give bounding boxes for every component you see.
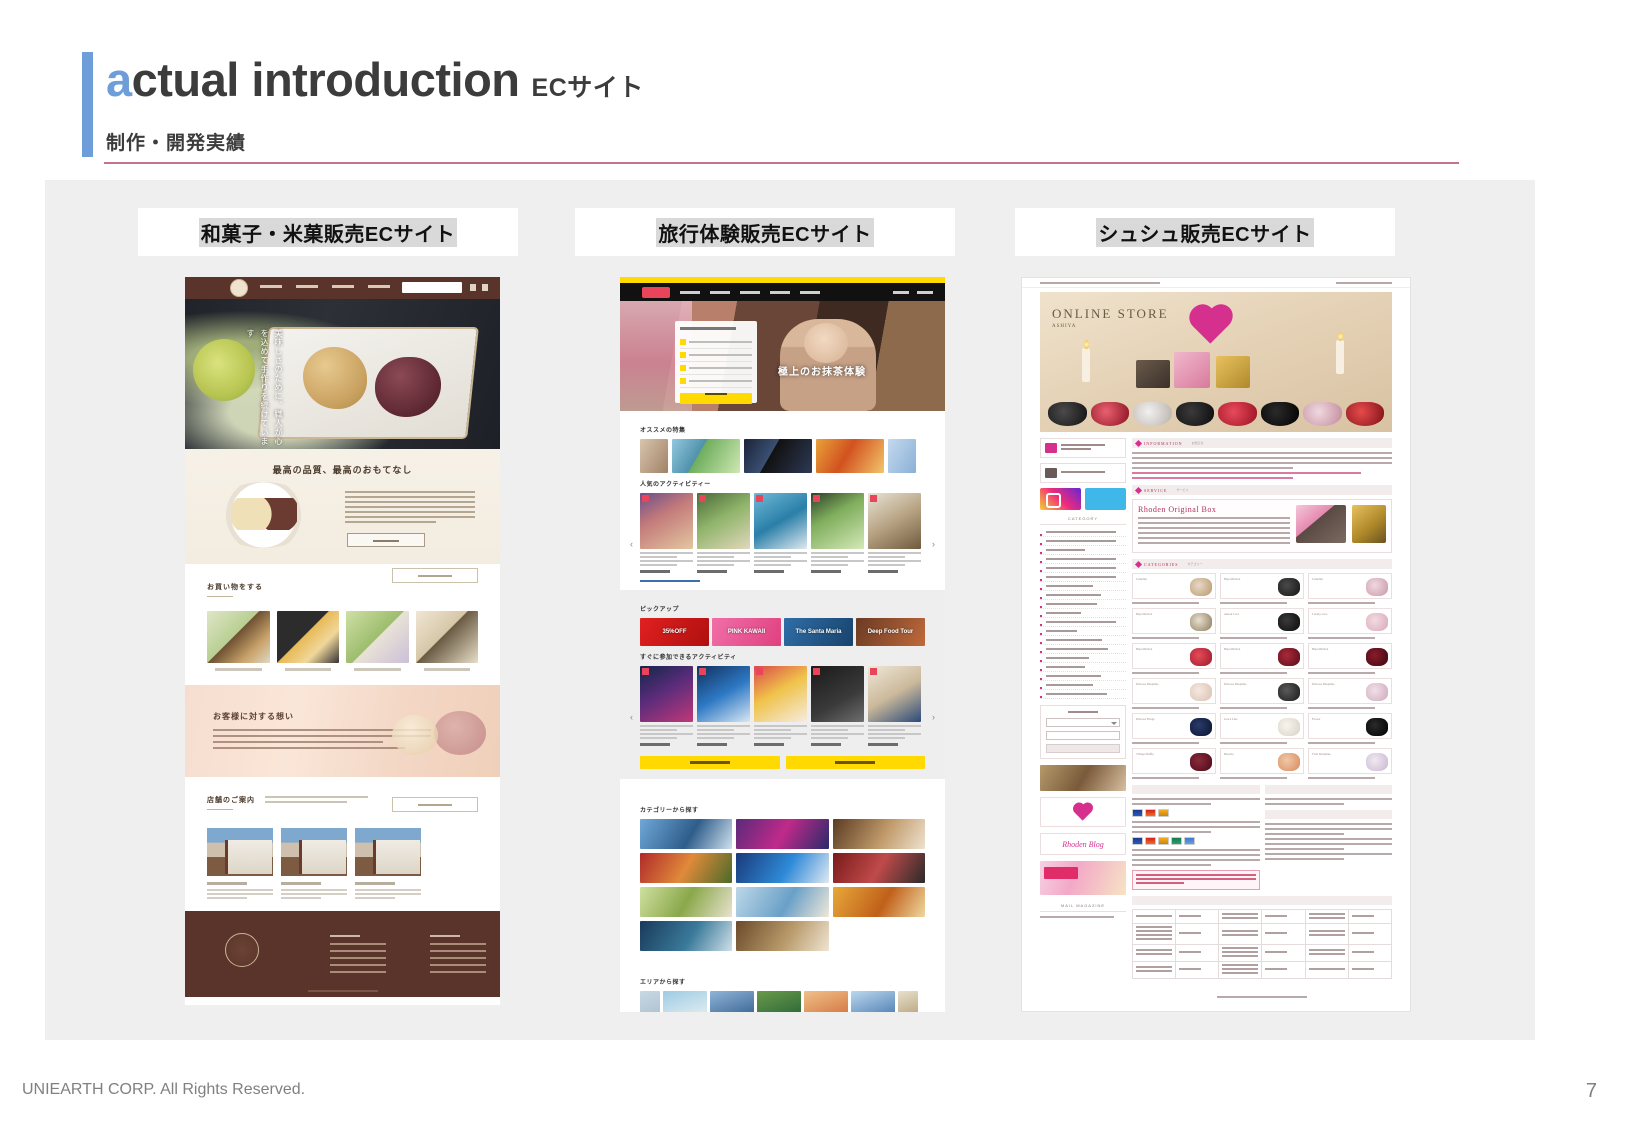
page-number: 7 — [1586, 1080, 1597, 1103]
product-brand: Bijou Ribbon — [1136, 647, 1152, 651]
product-brand: Camellia — [1312, 577, 1323, 581]
product-brand: Grace Line — [1224, 717, 1237, 721]
product-image: Amour Lace — [1220, 608, 1304, 634]
wagashi-nav-icons[interactable] — [470, 284, 488, 291]
chouchou-photo — [1278, 753, 1300, 771]
sidebar-banner-media[interactable] — [1040, 861, 1126, 895]
product-name — [1308, 707, 1375, 709]
login-icon — [917, 291, 933, 294]
shipping-column — [1265, 785, 1393, 890]
table-cell — [1305, 910, 1348, 924]
product-grid — [207, 611, 478, 671]
footer-column-shop[interactable] — [330, 935, 386, 978]
category-card[interactable] — [833, 887, 925, 917]
payment-heading — [1132, 785, 1260, 794]
feature-card[interactable] — [672, 439, 740, 473]
store-image — [207, 828, 273, 876]
sidebar-category-item[interactable] — [1040, 537, 1126, 546]
activity-image — [697, 666, 750, 722]
search-field-date[interactable] — [680, 362, 752, 375]
sidebar-category-item[interactable] — [1040, 672, 1126, 681]
category-card[interactable] — [833, 853, 925, 883]
badge-icon — [813, 495, 820, 502]
product-name — [1220, 602, 1287, 604]
table-cell — [1262, 910, 1305, 924]
feature-carousel[interactable] — [640, 439, 925, 473]
shipping-text — [1265, 798, 1393, 805]
travel-mock: 極上のお抹茶体験 オススメの特集 — [620, 277, 945, 1012]
store-name — [281, 882, 321, 885]
table-cell — [1133, 910, 1176, 924]
more-activities-link[interactable] — [640, 580, 700, 582]
badge-icon — [642, 668, 649, 675]
amex-icon — [1158, 809, 1169, 817]
product-card[interactable] — [207, 611, 270, 671]
search-field-category[interactable] — [680, 349, 752, 362]
chouchou-photo — [1190, 648, 1212, 666]
diamond-icon — [1135, 560, 1142, 567]
sidebar-category-item[interactable] — [1040, 618, 1126, 627]
chouchou-photo — [1278, 578, 1300, 596]
chouchou-image — [1218, 402, 1257, 426]
sidebar-category-item[interactable] — [1040, 627, 1126, 636]
sidebar-category-item[interactable] — [1040, 564, 1126, 573]
stores-heading: 店舗のご案内 — [207, 795, 255, 810]
activity-price — [754, 743, 784, 746]
carousel-prev-icon[interactable]: ‹ — [630, 712, 633, 722]
screenshot-wagashi-site[interactable]: 美味しさのために、職人が心を込めて手作りを続けています 最高の品質、最高のおもて… — [185, 277, 500, 1005]
payment-shipping-row — [1132, 785, 1392, 890]
activity-price — [640, 743, 670, 746]
activity-card[interactable] — [754, 493, 807, 573]
table-cell — [1348, 962, 1391, 979]
sidebar-category-item[interactable] — [1040, 609, 1126, 618]
table-cell — [1219, 924, 1262, 945]
product-brand: Twin Dauphine — [1312, 752, 1331, 756]
badge-icon — [699, 668, 706, 675]
table-cell — [1348, 945, 1391, 962]
instagram-icon[interactable] — [1040, 488, 1081, 510]
activity-price — [811, 743, 841, 746]
product-name — [1220, 777, 1287, 779]
information-text — [1132, 452, 1392, 479]
area-card[interactable] — [757, 991, 801, 1012]
product-card[interactable]: Grace Line — [1220, 713, 1304, 744]
category-card[interactable] — [833, 819, 925, 849]
table-cell — [1305, 962, 1348, 979]
area-section: エリアから探す — [620, 963, 945, 1012]
pickup-banner[interactable]: The Santa Maria — [784, 618, 853, 646]
section-sublabel: カテゴリー — [1187, 562, 1202, 566]
chouchou-photo — [1190, 613, 1212, 631]
carousel-prev-icon[interactable]: ‹ — [630, 539, 633, 549]
sidebar-category-item[interactable] — [1040, 636, 1126, 645]
category-card[interactable] — [640, 819, 732, 849]
page-subtitle: 制作・開発実績 — [106, 128, 246, 155]
wagashi-navbar — [185, 277, 500, 299]
wagashi-hero: 美味しさのために、職人が心を込めて手作りを続けています — [185, 299, 500, 449]
sidebar-category-item[interactable] — [1040, 555, 1126, 564]
search-submit-button[interactable] — [1046, 744, 1120, 753]
product-card[interactable]: Camellia — [1308, 573, 1392, 604]
philosophy-copy — [213, 729, 431, 753]
chouchou-photo — [1366, 683, 1388, 701]
table-cell — [1262, 924, 1305, 945]
pickup-banner[interactable]: 35%OFF — [640, 618, 709, 646]
title-highlight-letter: a — [106, 53, 132, 106]
store-info — [207, 889, 273, 899]
activity-title — [811, 725, 864, 739]
product-brand: Luxury Lace — [1312, 612, 1327, 616]
product-card[interactable]: Princess Dauphine — [1220, 678, 1304, 709]
area-card[interactable] — [663, 991, 707, 1012]
store-info — [281, 889, 347, 899]
header-divider — [104, 162, 1459, 164]
table-cell — [1348, 910, 1391, 924]
table-cell — [1305, 945, 1348, 962]
stores-more-button[interactable] — [392, 797, 478, 812]
mastercard-icon — [1145, 837, 1156, 845]
section-heading-popular: 人気のアクティビティー — [640, 479, 925, 488]
visa-icon — [1132, 809, 1143, 817]
sidebar-category-item[interactable] — [1040, 528, 1126, 537]
product-image: Princess Dauphine — [1132, 678, 1216, 704]
search-input[interactable] — [402, 282, 462, 293]
activity-image — [640, 493, 693, 549]
search-category-select[interactable] — [1046, 718, 1120, 727]
category-card[interactable] — [640, 887, 732, 917]
section-header-information: INFORMATION お知らせ — [1132, 438, 1392, 448]
shop-view-all-button[interactable] — [392, 568, 478, 583]
travel-nav-links[interactable] — [680, 291, 820, 294]
philosophy-section: お客様に対する想い — [185, 685, 500, 777]
sidebar-category-item[interactable] — [1040, 681, 1126, 690]
sidebar-category-item[interactable] — [1040, 654, 1126, 663]
activity-price — [868, 743, 898, 746]
activity-price — [697, 743, 727, 746]
product-card[interactable]: Camellia — [1132, 573, 1216, 604]
search-submit-button[interactable] — [680, 393, 752, 404]
travel-top: 極上のお抹茶体験 — [620, 277, 945, 411]
product-name — [1132, 777, 1199, 779]
gift-box-image — [1136, 360, 1170, 388]
activity-image — [754, 493, 807, 549]
product-card[interactable]: Princess Dauphine — [1132, 678, 1216, 709]
product-brand: Princess Dauphine — [1224, 682, 1246, 686]
chouchou-main: CATEGORY — [1022, 432, 1410, 1012]
section-header-categories: CATEGORIES カテゴリー — [1132, 559, 1392, 569]
chouchou-photo — [1278, 683, 1300, 701]
feature-card[interactable] — [888, 439, 916, 473]
activity-card[interactable] — [754, 666, 807, 746]
screenshot-travel-site[interactable]: 極上のお抹茶体験 オススメの特集 — [620, 277, 945, 1012]
store-card[interactable] — [207, 828, 273, 901]
hair-accessory-row — [1048, 386, 1384, 426]
search-icon — [680, 378, 686, 384]
category-card[interactable] — [736, 819, 828, 849]
category-card[interactable] — [736, 853, 828, 883]
activity-card[interactable] — [697, 493, 750, 573]
area-card[interactable] — [851, 991, 895, 1012]
chouchou-sidebar: CATEGORY — [1040, 438, 1126, 1012]
section-heading-features: オススメの特集 — [640, 425, 925, 434]
category-grid — [640, 819, 925, 951]
sidebar-banner-gift[interactable] — [1040, 765, 1126, 791]
product-image — [207, 611, 270, 663]
chouchou-utility-nav[interactable] — [1022, 278, 1410, 288]
section-heading-pickup: ピックアップ — [640, 604, 925, 613]
store-card[interactable] — [281, 828, 347, 901]
activity-image — [811, 493, 864, 549]
product-card[interactable]: Princess Dauphine — [1308, 678, 1392, 709]
social-links — [1040, 488, 1126, 510]
sidebar-magazine-text — [1040, 916, 1126, 918]
area-carousel[interactable] — [640, 991, 925, 1012]
promo-title: Rhoden Original Box — [1138, 505, 1290, 514]
product-card[interactable]: Bijou Ribbon — [1308, 643, 1392, 674]
area-card[interactable] — [640, 991, 660, 1012]
product-card[interactable]: Amour Lace — [1220, 608, 1304, 639]
product-name — [1308, 742, 1375, 744]
product-brand: Bijou Ribbon — [1224, 577, 1240, 581]
badge-icon — [870, 668, 877, 675]
sidebar-cart-label — [1061, 471, 1105, 475]
search-keyword-input[interactable] — [1046, 731, 1120, 740]
sidebar-category-item[interactable] — [1040, 546, 1126, 555]
category-section: カテゴリーから探す — [620, 789, 945, 963]
chouchou-mock: ONLINE STOREASHIYA — [1021, 277, 1411, 1012]
table-cell — [1219, 910, 1262, 924]
product-name — [1132, 637, 1199, 639]
product-brand: Princess Fringe — [1136, 717, 1155, 721]
chouchou-photo — [1190, 753, 1212, 771]
product-name — [1220, 637, 1287, 639]
pin-icon — [680, 339, 686, 345]
product-image: Bijou Ribbon — [1220, 573, 1304, 599]
sidebar-category-item[interactable] — [1040, 573, 1126, 582]
shipping-table-heading — [1132, 896, 1392, 905]
store-info — [355, 889, 421, 899]
category-card[interactable] — [640, 921, 732, 951]
returns-heading — [1265, 810, 1393, 819]
footer-link-columns — [330, 935, 500, 978]
product-card[interactable]: Luxury Lace — [1308, 608, 1392, 639]
product-image: Bijou Ribbon — [1132, 643, 1216, 669]
activity-card[interactable] — [640, 666, 693, 746]
hero-title-line2: ASHIYA — [1052, 324, 1169, 329]
chouchou-content: INFORMATION お知らせ SERVICE サービス — [1132, 438, 1392, 1012]
footer-column-guide[interactable] — [430, 935, 486, 978]
activity-card[interactable] — [868, 493, 921, 573]
original-box-promo[interactable]: Rhoden Original Box — [1132, 499, 1392, 553]
sidebar-category-item[interactable] — [1040, 690, 1126, 699]
table-row — [1133, 962, 1392, 979]
product-card[interactable]: Bijou Ribbon — [1220, 643, 1304, 674]
product-card[interactable] — [416, 611, 479, 671]
table-cell — [1176, 910, 1219, 924]
column-wagashi: 和菓子・米菓販売ECサイト 美味しさのために、職人が心を込めて手作り — [138, 180, 518, 1005]
payment-method-icons — [1132, 837, 1260, 845]
category-card[interactable] — [736, 921, 828, 951]
search-field-area[interactable] — [680, 336, 752, 349]
section-sublabel: お知らせ — [1192, 441, 1204, 445]
sidebar-category-item[interactable] — [1040, 663, 1126, 672]
chouchou-photo — [1190, 578, 1212, 596]
hero-headline: 極上のお抹茶体験 — [778, 363, 866, 378]
category-card[interactable] — [736, 887, 828, 917]
screenshot-chouchou-site[interactable]: ONLINE STOREASHIYA — [1021, 277, 1411, 1012]
product-card[interactable]: Barrette — [1220, 748, 1304, 779]
product-name — [1308, 637, 1375, 639]
credit-card-icons — [1132, 809, 1260, 817]
table-cell — [1133, 962, 1176, 979]
wagashi-nav-links[interactable] — [260, 285, 390, 288]
sidebar-category-item[interactable] — [1040, 600, 1126, 609]
quality-more-button[interactable] — [347, 533, 425, 547]
activity-title — [697, 725, 750, 739]
section-heading-area: エリアから探す — [640, 977, 925, 986]
product-grid: Camellia Bijou Ribbon Camellia Bijou Rib… — [1132, 573, 1392, 779]
table-row — [1133, 945, 1392, 962]
product-card[interactable]: Princess Fringe — [1132, 713, 1216, 744]
product-brand: Flower — [1312, 717, 1321, 721]
store-name — [355, 882, 395, 885]
wagashi-logo — [230, 279, 248, 297]
activity-title — [754, 552, 807, 566]
product-card[interactable]: Bijou Ribbon — [1220, 573, 1304, 604]
chouchou-footer — [1132, 979, 1392, 1012]
sidebar-cart-button[interactable] — [1040, 463, 1126, 483]
travel-nav-right[interactable] — [893, 291, 933, 294]
product-brand: Bijou Ribbon — [1312, 647, 1328, 651]
title-accent-bar — [82, 52, 93, 157]
search-field-keyword[interactable] — [680, 375, 752, 388]
pickup-section: ピックアップ 35%OFF PINK KAWAII The Santa Mari… — [620, 590, 945, 779]
badge-icon — [756, 668, 763, 675]
sidebar-guide-button[interactable] — [1040, 438, 1126, 458]
activity-title — [640, 725, 693, 739]
activity-card[interactable] — [697, 666, 750, 746]
area-card[interactable] — [804, 991, 848, 1012]
area-card[interactable] — [898, 991, 918, 1012]
activity-card[interactable] — [868, 666, 921, 746]
amex-icon — [1158, 837, 1169, 845]
product-name — [215, 668, 262, 671]
product-card[interactable]: Flower — [1308, 713, 1392, 744]
activity-search-form[interactable] — [675, 321, 757, 403]
pickup-banner[interactable]: PINK KAWAII — [712, 618, 781, 646]
slide: actual introduction ECサイト 制作・開発実績 和菓子・米菓… — [0, 0, 1625, 1125]
sidebar-banner-official-website[interactable] — [1040, 797, 1126, 827]
product-card[interactable]: Bijou Ribbon — [1132, 643, 1216, 674]
title-sub-jp: ECサイト — [532, 68, 644, 104]
footer-copyright-bar — [308, 990, 378, 992]
sidebar-banner-blog[interactable]: Rhoden Blog — [1040, 833, 1126, 855]
bag-icon — [1045, 443, 1057, 453]
column-chouchou: シュシュ販売ECサイト ONLINE STOREASHIYA — [1015, 180, 1395, 1012]
calendar-icon — [680, 365, 686, 371]
activity-title — [868, 725, 921, 739]
payment-warning — [1132, 870, 1260, 890]
product-name — [1220, 742, 1287, 744]
activity-image — [811, 666, 864, 722]
product-card[interactable] — [346, 611, 409, 671]
activity-price — [697, 570, 727, 573]
product-image: Princess Dauphine — [1308, 678, 1392, 704]
feature-card[interactable] — [816, 439, 884, 473]
shipping-fee-table — [1132, 909, 1392, 979]
travel-logo[interactable] — [642, 287, 670, 298]
product-image — [277, 611, 340, 663]
store-card[interactable] — [355, 828, 421, 901]
gift-box-image — [1352, 505, 1386, 543]
wagashi-footer — [185, 911, 500, 997]
area-card[interactable] — [710, 991, 754, 1012]
cta-button-search-date[interactable] — [640, 756, 780, 769]
sidebar-category-item[interactable] — [1040, 645, 1126, 654]
chouchou-image — [1091, 402, 1130, 426]
sidebar-category-item[interactable] — [1040, 591, 1126, 600]
travel-body: オススメの特集 人気のアクティビティー ‹ — [620, 411, 945, 789]
twitter-icon[interactable] — [1085, 488, 1126, 510]
activity-card[interactable] — [811, 493, 864, 573]
user-icon — [470, 284, 476, 291]
product-card[interactable]: Twin Dauphine — [1308, 748, 1392, 779]
section-label: CATEGORIES — [1144, 562, 1178, 567]
stores-section: 店舗のご案内 — [185, 777, 500, 911]
pickup-banner[interactable]: Deep Food Tour — [856, 618, 925, 646]
carousel-next-icon[interactable]: › — [932, 712, 935, 722]
column-heading-wagashi: 和菓子・米菓販売ECサイト — [138, 208, 518, 256]
carousel-next-icon[interactable]: › — [932, 539, 935, 549]
badge-icon — [870, 495, 877, 502]
sidebar-search-box — [1040, 705, 1126, 759]
product-brand: Amour Lace — [1224, 612, 1239, 616]
hero-vertical-text: 美味しさのために、職人が心を込めて手作りを続けています — [243, 329, 285, 449]
visa-icon — [1132, 837, 1143, 845]
payment-text — [1132, 798, 1260, 805]
activity-card[interactable] — [640, 493, 693, 573]
activity-title — [640, 552, 693, 566]
chouchou-photo — [1278, 613, 1300, 631]
sidebar-category-item[interactable] — [1040, 582, 1126, 591]
product-card[interactable]: Bijou Ribbon — [1132, 608, 1216, 639]
feature-card[interactable] — [744, 439, 812, 473]
tag-icon — [680, 352, 686, 358]
activity-card[interactable] — [811, 666, 864, 746]
activity-image — [754, 666, 807, 722]
product-name — [1132, 707, 1199, 709]
chouchou-image — [1261, 402, 1300, 426]
store-name — [207, 882, 247, 885]
table-row — [1133, 910, 1392, 924]
product-card[interactable]: Village Muffle — [1132, 748, 1216, 779]
category-card[interactable] — [640, 853, 732, 883]
product-brand: Camellia — [1136, 577, 1147, 581]
instant-activities-carousel[interactable]: ‹ › — [640, 666, 925, 746]
travel-navbar — [620, 283, 945, 301]
travel-hero: 極上のお抹茶体験 — [620, 301, 945, 411]
product-card[interactable] — [277, 611, 340, 671]
footer-link[interactable] — [1217, 996, 1307, 998]
popular-activities-carousel[interactable]: ‹ › — [640, 493, 925, 573]
feature-card[interactable] — [640, 439, 668, 473]
activity-price — [811, 570, 841, 573]
chouchou-photo — [1366, 718, 1388, 736]
shipping-heading — [1265, 785, 1393, 794]
product-image: Barrette — [1220, 748, 1304, 774]
cta-button-search-area[interactable] — [786, 756, 926, 769]
